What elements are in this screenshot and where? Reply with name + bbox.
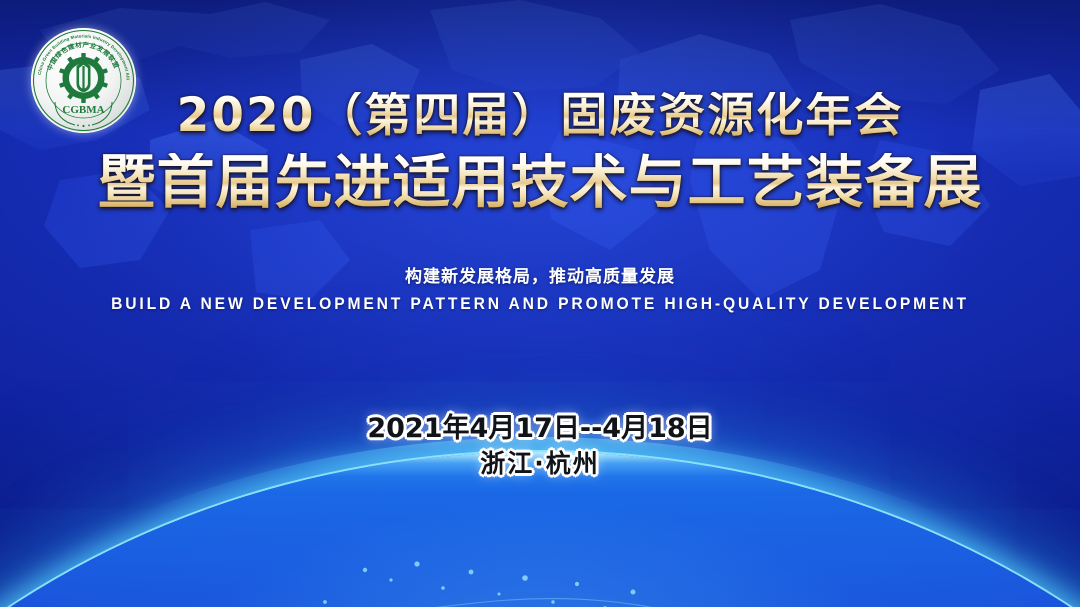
headline-line-2: 暨首届先进适用技术与工艺装备展 — [0, 153, 1080, 211]
event-location: 浙江·杭州 — [0, 444, 1080, 480]
headline-line-1: 2020（第四届）固废资源化年会 — [0, 92, 1080, 139]
headline-block: 2020（第四届）固废资源化年会 暨首届先进适用技术与工艺装备展 — [0, 92, 1080, 211]
slogan-chinese: 构建新发展格局，推动高质量发展 — [0, 262, 1080, 287]
slogan-english: BUILD A NEW DEVELOPMENT PATTERN AND PROM… — [43, 294, 1037, 314]
event-date: 2021年4月17日--4月18日 — [0, 406, 1080, 445]
conference-poster: China Green Building Materials Industry … — [0, 0, 1080, 607]
